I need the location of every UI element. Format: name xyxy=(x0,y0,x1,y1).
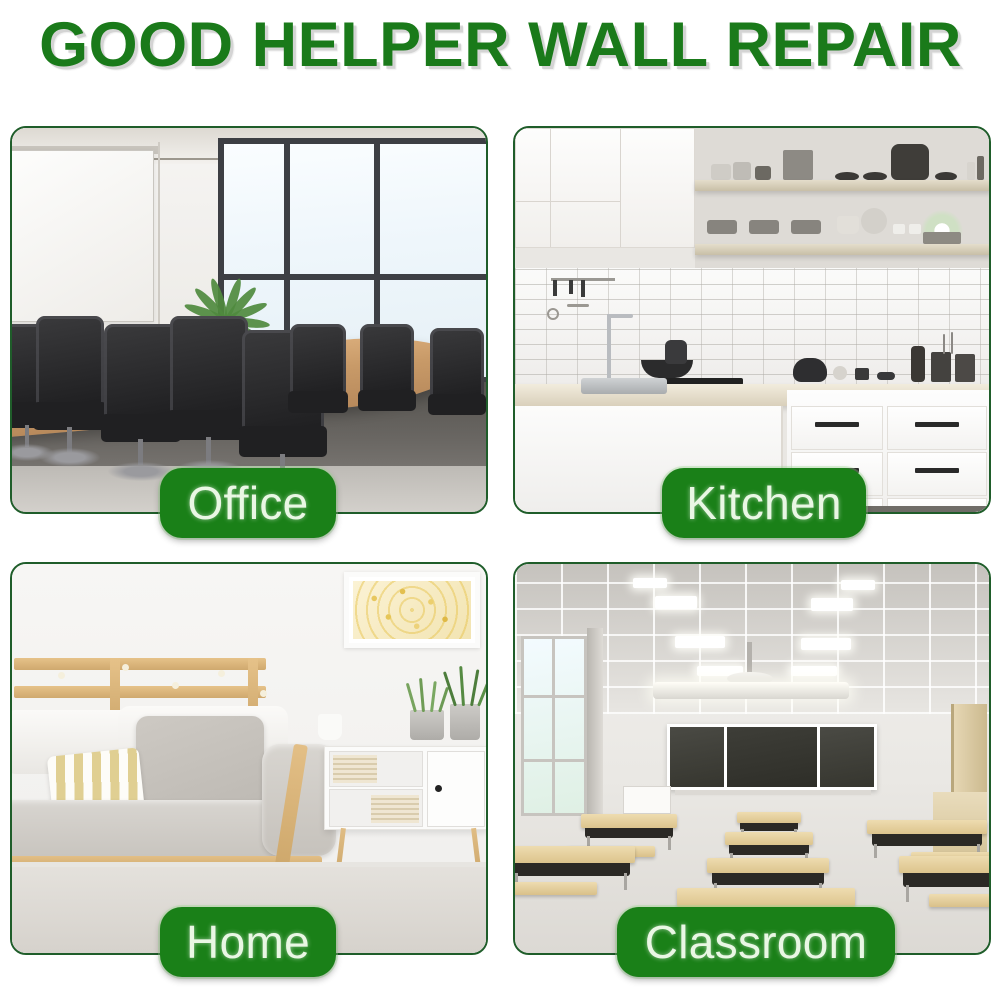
counter-dish xyxy=(877,372,895,380)
desk-top xyxy=(707,858,829,873)
desk-top xyxy=(867,820,987,834)
desk-top xyxy=(737,812,801,823)
plant-pot xyxy=(450,704,480,740)
counter-bowl xyxy=(833,366,847,380)
plant-blade xyxy=(459,666,465,706)
white-vase xyxy=(318,714,342,740)
ceiling-light-panel xyxy=(841,580,875,590)
utensil-hook xyxy=(553,280,557,296)
sideboard-knob[interactable] xyxy=(435,785,442,792)
cabinet-divider xyxy=(550,129,551,247)
wood-slat xyxy=(14,658,266,670)
office-chair xyxy=(170,316,248,484)
kettle xyxy=(665,340,687,364)
glass-jar xyxy=(711,164,731,180)
ceiling-light-panel xyxy=(801,638,851,650)
panel-office[interactable] xyxy=(10,126,488,514)
ceiling-light-panel xyxy=(633,578,667,588)
stacked-plates xyxy=(749,220,779,234)
cabinet-divider xyxy=(516,201,620,202)
projector-screen xyxy=(12,150,154,322)
open-shelf-bottom xyxy=(695,244,989,255)
string-light xyxy=(122,664,129,671)
utensil xyxy=(951,332,953,354)
drawer xyxy=(887,452,987,496)
window-bar xyxy=(552,639,555,813)
product-infographic: GOOD HELPER WALL REPAIR xyxy=(0,0,1001,1001)
classroom-window xyxy=(521,636,587,816)
ceiling-light-panel xyxy=(675,636,725,648)
glass-jar xyxy=(733,162,751,180)
label-badge-home[interactable]: Home xyxy=(160,907,336,977)
drawer-handle xyxy=(915,468,959,473)
plant-blade xyxy=(430,681,437,712)
drawer-handle xyxy=(915,422,959,427)
pendant-fluorescent-light xyxy=(653,682,849,699)
classroom-scene xyxy=(515,564,989,953)
chair-seat xyxy=(33,402,106,430)
black-teapot-counter xyxy=(793,358,827,382)
chair-back xyxy=(170,316,248,417)
chair-back xyxy=(104,324,178,420)
office-chair xyxy=(36,316,104,470)
chair-stem xyxy=(138,439,143,465)
blackboard-pane-center xyxy=(727,727,818,787)
dark-bottle xyxy=(911,346,925,382)
plate-on-edge xyxy=(861,208,887,234)
counter-cup xyxy=(855,368,869,380)
chair-back xyxy=(290,324,346,396)
student-desk xyxy=(581,814,677,850)
hanging-utensil xyxy=(567,304,589,307)
label-badge-kitchen[interactable]: Kitchen xyxy=(662,468,866,538)
blackboard-pane-right xyxy=(820,727,874,787)
office-chair xyxy=(360,324,414,442)
desk-top xyxy=(725,832,813,845)
wood-slat xyxy=(14,686,266,698)
upper-cabinets xyxy=(515,128,695,248)
office-scene xyxy=(12,128,486,512)
sideboard xyxy=(324,746,486,830)
open-shelf-top xyxy=(695,180,989,191)
label-badge-classroom[interactable]: Classroom xyxy=(617,907,895,977)
blackboard xyxy=(667,724,877,790)
office-chair xyxy=(104,324,178,484)
panel-classroom[interactable] xyxy=(513,562,991,955)
drawer xyxy=(791,406,883,450)
office-chair xyxy=(290,324,346,444)
plant-blade xyxy=(438,687,449,713)
planter-basket xyxy=(923,232,961,244)
utensil-hook xyxy=(581,280,585,297)
white-bowl xyxy=(837,216,859,234)
lavender-plant xyxy=(408,676,448,712)
string-light xyxy=(172,682,179,689)
chair-back xyxy=(430,328,484,399)
scene-grid xyxy=(10,126,991,956)
blackboard-pane-left xyxy=(670,727,724,787)
utensil-crock xyxy=(931,352,951,382)
stacked-plates xyxy=(791,220,821,234)
utensil-holder xyxy=(977,156,984,180)
kitchen-scene xyxy=(515,128,989,512)
window-bar xyxy=(524,759,584,762)
home-scene xyxy=(12,564,486,953)
panel-kitchen[interactable] xyxy=(513,126,991,514)
chair-back xyxy=(360,324,414,395)
chair-base xyxy=(40,448,100,466)
utensil xyxy=(943,334,945,354)
faucet xyxy=(607,314,611,386)
cabinet-divider xyxy=(620,129,621,247)
string-light xyxy=(58,672,65,679)
window-bar xyxy=(524,695,584,698)
stacked-plates xyxy=(707,220,737,234)
drawer xyxy=(887,406,987,450)
chair-seat xyxy=(358,390,416,411)
whiteboard-small xyxy=(623,786,671,814)
faucet-spout xyxy=(607,314,633,318)
ceiling-light-panel xyxy=(811,598,853,611)
string-light xyxy=(218,670,225,677)
stacked-books xyxy=(333,755,377,783)
small-bowl xyxy=(755,166,771,180)
panel-home[interactable] xyxy=(10,562,488,955)
window-curtain xyxy=(587,628,603,824)
spiky-plant xyxy=(450,666,484,706)
label-badge-office[interactable]: Office xyxy=(160,468,336,538)
desk-top xyxy=(581,814,677,828)
black-teapot xyxy=(891,144,929,180)
plant-blade xyxy=(406,683,417,713)
artwork-canvas xyxy=(353,581,471,639)
small-bottle xyxy=(967,162,975,180)
desk-top xyxy=(899,856,989,873)
page-title: GOOD HELPER WALL REPAIR xyxy=(0,6,1001,84)
drawer-handle xyxy=(815,422,859,427)
chair-seat xyxy=(288,391,348,413)
desk-top xyxy=(677,888,855,907)
vase-with-twigs xyxy=(783,150,813,180)
wall-corner-edge xyxy=(158,142,160,342)
bench-seat xyxy=(515,882,597,895)
utensil-crock xyxy=(955,354,975,382)
chair-back xyxy=(36,316,104,408)
string-light xyxy=(260,690,267,697)
grey-throw-pillow xyxy=(136,716,264,810)
framed-artwork xyxy=(344,572,480,648)
stacked-books xyxy=(371,795,419,823)
mug xyxy=(893,224,905,234)
ceiling-light-panel xyxy=(791,666,837,676)
desk-top xyxy=(515,846,635,863)
plant-pot xyxy=(410,710,444,740)
utensil-hook xyxy=(569,280,573,294)
office-chair xyxy=(430,328,484,446)
ceiling-light-panel xyxy=(655,596,697,609)
bench-seat xyxy=(929,894,989,907)
chair-seat xyxy=(428,394,486,415)
sink xyxy=(581,378,667,394)
chalk-tray xyxy=(675,790,871,795)
pendant-rod xyxy=(747,642,752,676)
plant-blade xyxy=(419,678,425,712)
hanging-utensil xyxy=(547,308,559,320)
